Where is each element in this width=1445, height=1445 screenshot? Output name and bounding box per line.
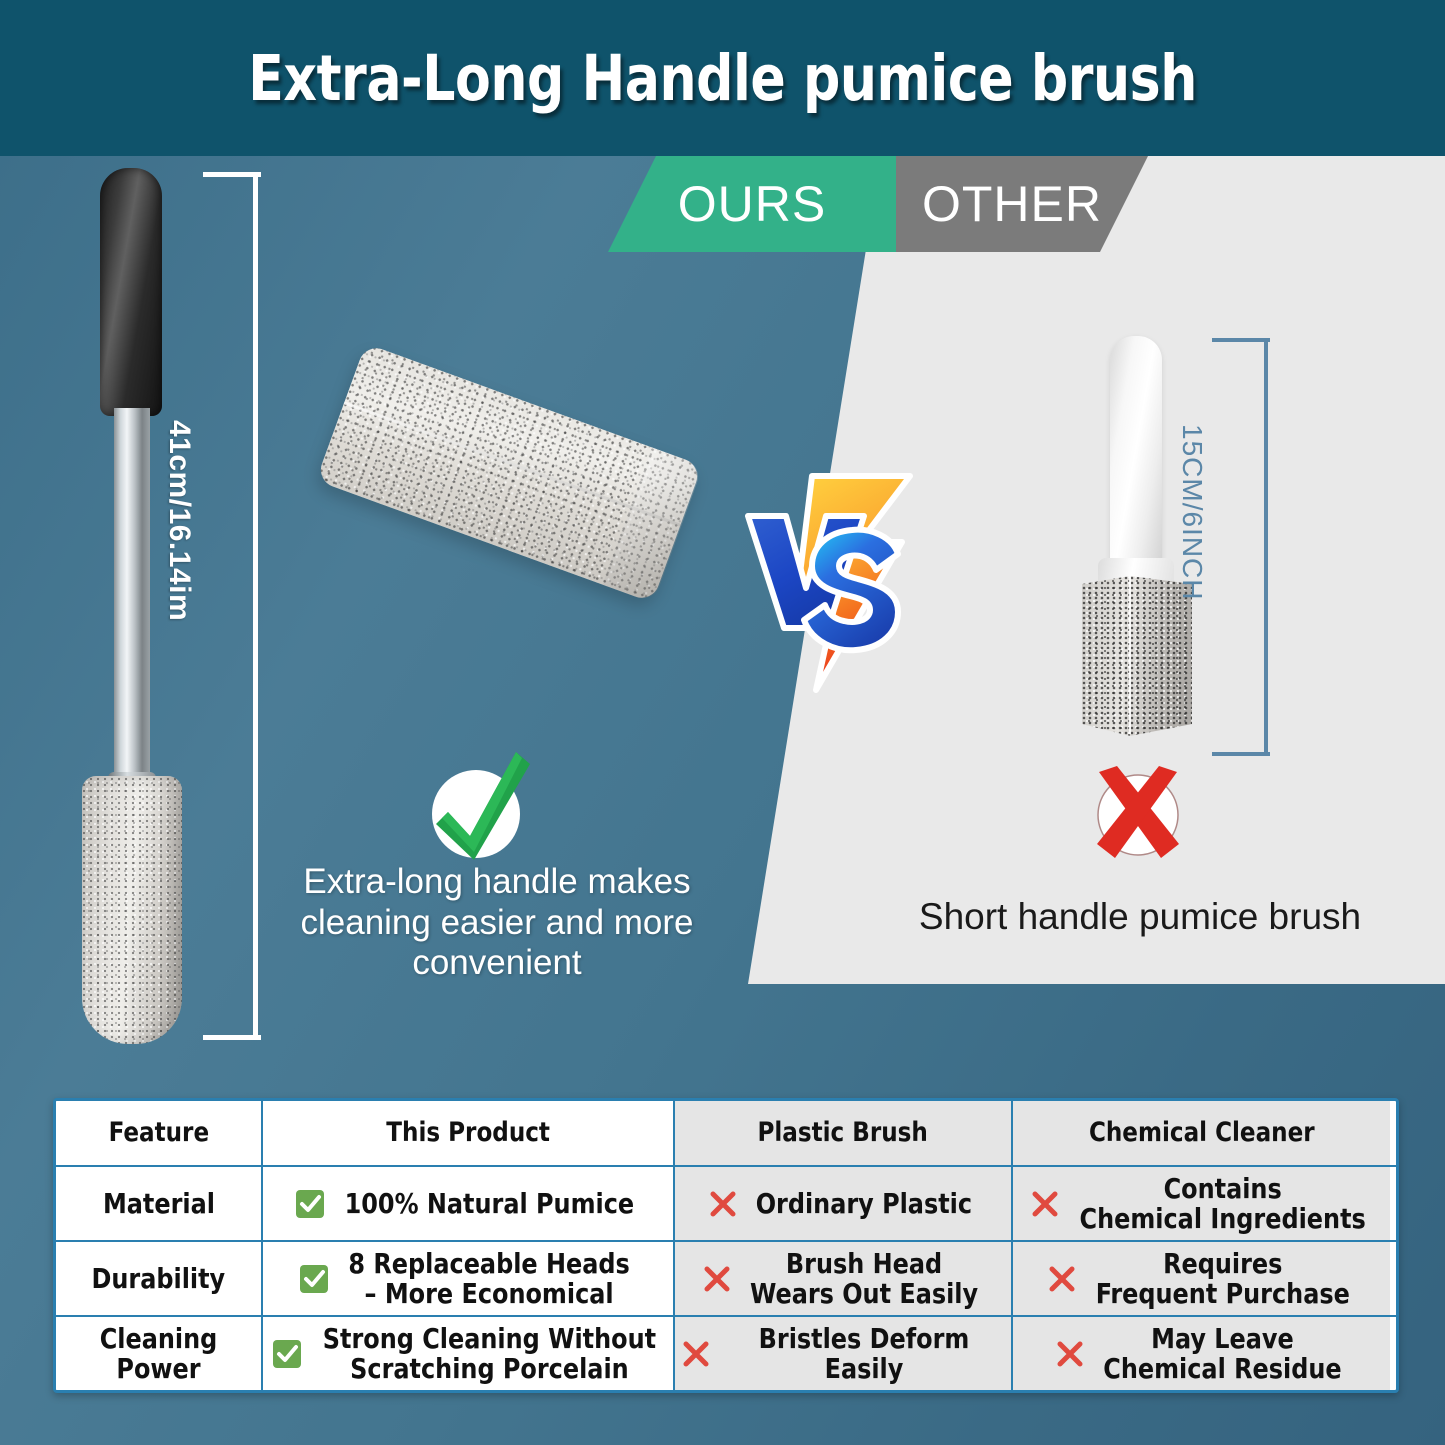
cell-this-product: Strong Cleaning Without Scratching Porce…	[263, 1317, 675, 1390]
right-dimension-label: 15CM/6INCH	[1176, 424, 1208, 600]
cell-feature: Material	[56, 1167, 263, 1240]
table-header-row: Feature This Product Plastic Brush Chemi…	[56, 1101, 1396, 1167]
cross-icon	[1030, 1189, 1060, 1219]
dimension-cap-bottom	[1212, 752, 1270, 756]
dimension-shaft	[1264, 338, 1268, 756]
cell-text-multiline: Contains Chemical Ingredients	[1079, 1174, 1365, 1233]
check-icon	[295, 1189, 325, 1219]
brush-pumice-head	[82, 776, 182, 1044]
table-row: Cleaning Power Strong Cleaning Without S…	[56, 1317, 1396, 1390]
left-caption: Extra-long handle makes cleaning easier …	[262, 862, 732, 984]
cell-feature: Durability	[56, 1242, 263, 1315]
comparison-table: Feature This Product Plastic Brush Chemi…	[53, 1098, 1399, 1393]
table-header-this-product: This Product	[263, 1101, 675, 1165]
cell-plastic-brush: Bristles Deform Easily	[675, 1317, 1013, 1390]
banner-ours-label: OURS	[678, 175, 826, 233]
infographic-page: Extra-Long Handle pumice brush OURS OTHE…	[0, 0, 1445, 1445]
cell-plastic-brush: Ordinary Plastic	[675, 1167, 1013, 1240]
left-dimension-line	[203, 172, 263, 1040]
short-brush-handle	[1110, 336, 1162, 584]
pumice-end-face	[602, 447, 703, 603]
banner-other-label: OTHER	[922, 175, 1102, 233]
cross-icon	[1055, 1339, 1085, 1369]
table-row: Material 100% Natural Pumice Ordinary Pl…	[56, 1167, 1396, 1242]
cross-icon	[702, 1264, 732, 1294]
short-brush-pumice-edge	[1129, 576, 1131, 734]
banner-ours: OURS	[608, 156, 896, 252]
pumice-stone-block-image	[316, 343, 702, 603]
comparison-banner: OURS OTHER	[608, 156, 1148, 252]
brush-grip	[100, 168, 162, 416]
right-dimension-line	[1212, 338, 1272, 756]
check-icon	[272, 1339, 302, 1369]
page-header: Extra-Long Handle pumice brush	[0, 0, 1445, 156]
cell-this-product: 100% Natural Pumice	[263, 1167, 675, 1240]
table-header-chemical-cleaner: Chemical Cleaner	[1013, 1101, 1390, 1165]
brush-steel-rod	[114, 408, 150, 783]
table-row: Durability 8 Replaceable Heads – More Ec…	[56, 1242, 1396, 1317]
cell-plastic-brush: Brush Head Wears Out Easily	[675, 1242, 1013, 1315]
vs-lightning-badge-icon	[742, 468, 922, 698]
cross-icon	[681, 1339, 711, 1369]
cell-chemical-cleaner: May Leave Chemical Residue	[1013, 1317, 1390, 1390]
red-x-circle-icon	[1083, 760, 1193, 870]
right-caption: Short handle pumice brush	[840, 896, 1440, 938]
cross-icon	[708, 1189, 738, 1219]
dimension-shaft	[253, 172, 258, 1040]
page-title: Extra-Long Handle pumice brush	[248, 42, 1197, 115]
left-dimension-label: 41cm/16.14im	[162, 420, 196, 621]
banner-other: OTHER	[896, 156, 1148, 252]
green-check-circle-icon	[418, 748, 538, 868]
cross-icon	[1047, 1264, 1077, 1294]
cell-feature: Cleaning Power	[56, 1317, 263, 1390]
check-icon	[299, 1264, 329, 1294]
cell-chemical-cleaner: Contains Chemical Ingredients	[1013, 1167, 1390, 1240]
table-header-feature: Feature	[56, 1101, 263, 1165]
cell-chemical-cleaner: Requires Frequent Purchase	[1013, 1242, 1390, 1315]
cell-this-product: 8 Replaceable Heads – More Economical	[263, 1242, 675, 1315]
table-header-plastic-brush: Plastic Brush	[675, 1101, 1013, 1165]
dimension-cap-top	[1212, 338, 1270, 342]
dimension-cap-bottom	[203, 1035, 261, 1040]
